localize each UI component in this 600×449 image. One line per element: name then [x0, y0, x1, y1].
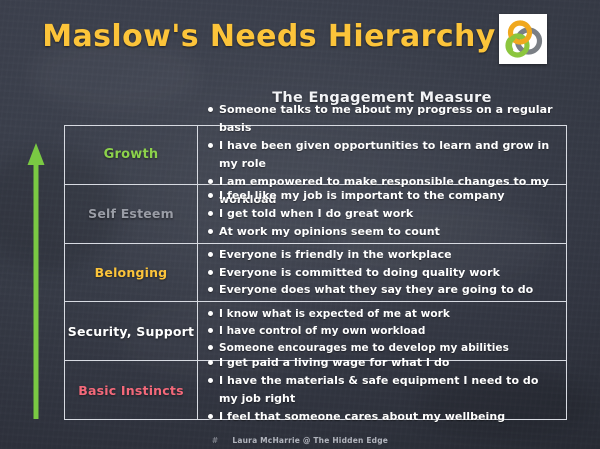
table-row: Basic Instincts I get paid a living wage… [65, 361, 566, 419]
bullet-icon [208, 252, 213, 257]
need-level-label: Self Esteem [65, 185, 198, 243]
bullet-icon [208, 378, 213, 383]
bullet-icon [208, 229, 213, 234]
list-item: Everyone is committed to doing quality w… [208, 264, 560, 282]
footer-credit: #Laura McHarrie @ The Hidden Edge [0, 436, 600, 445]
list-item: I get told when I do great work [208, 205, 560, 223]
engagement-statement-list: I feel like my job is important to the c… [198, 185, 566, 243]
list-item: I feel like my job is important to the c… [208, 187, 560, 205]
need-level-label: Growth [65, 126, 198, 184]
bullet-icon [208, 143, 213, 148]
list-item-text: I get told when I do great work [219, 205, 413, 223]
list-item-text: I feel like my job is important to the c… [219, 187, 505, 205]
table-row: Security, Support I know what is expecte… [65, 302, 566, 361]
engagement-statement-list: I get paid a living wage for what I do I… [198, 361, 566, 419]
list-item-text: I have been given opportunities to learn… [219, 137, 560, 173]
list-item: I have been given opportunities to learn… [208, 137, 560, 173]
bullet-icon [208, 179, 213, 184]
footer-mark: # [212, 436, 218, 445]
table-row: Growth Someone talks to me about my prog… [65, 126, 566, 185]
engagement-statement-list: Someone talks to me about my progress on… [198, 126, 566, 184]
interlocking-rings-logo [499, 14, 547, 64]
engagement-statement-list: I know what is expected of me at work I … [198, 302, 566, 360]
bullet-icon [208, 270, 213, 275]
list-item-text: Someone talks to me about my progress on… [219, 101, 560, 137]
bullet-icon [208, 211, 213, 216]
needs-hierarchy-table: Growth Someone talks to me about my prog… [64, 125, 567, 420]
bullet-icon [208, 345, 213, 350]
upward-progress-arrow [27, 143, 45, 419]
list-item-text: Everyone is friendly in the workplace [219, 246, 452, 264]
list-item: Everyone does what they say they are goi… [208, 281, 560, 299]
need-level-label: Belonging [65, 244, 198, 302]
table-row: Belonging Everyone is friendly in the wo… [65, 244, 566, 303]
engagement-statement-list: Everyone is friendly in the workplace Ev… [198, 244, 566, 302]
list-item: Everyone is friendly in the workplace [208, 246, 560, 264]
list-item: Someone talks to me about my progress on… [208, 101, 560, 137]
bullet-icon [208, 328, 213, 333]
bullet-icon [208, 311, 213, 316]
bullet-icon [208, 287, 213, 292]
list-item-text: I have control of my own workload [219, 323, 425, 340]
need-level-label: Basic Instincts [65, 361, 198, 419]
list-item: I have control of my own workload [208, 323, 560, 340]
list-item-text: At work my opinions seem to count [219, 223, 440, 241]
list-item: I feel that someone cares about my wellb… [208, 408, 560, 426]
bullet-icon [208, 360, 213, 365]
list-item: At work my opinions seem to count [208, 223, 560, 241]
list-item-text: I get paid a living wage for what I do [219, 354, 450, 372]
bullet-icon [208, 107, 213, 112]
list-item: I get paid a living wage for what I do [208, 354, 560, 372]
table-row: Self Esteem I feel like my job is import… [65, 185, 566, 244]
list-item-text: Everyone is committed to doing quality w… [219, 264, 500, 282]
list-item-text: Everyone does what they say they are goi… [219, 281, 533, 299]
bullet-icon [208, 193, 213, 198]
list-item-text: I have the materials & safe equipment I … [219, 372, 560, 408]
list-item-text: I feel that someone cares about my wellb… [219, 408, 505, 426]
need-level-label: Security, Support [65, 302, 198, 360]
bullet-icon [208, 414, 213, 419]
footer-credit-text: Laura McHarrie @ The Hidden Edge [232, 436, 388, 445]
list-item: I have the materials & safe equipment I … [208, 372, 560, 408]
list-item: I know what is expected of me at work [208, 306, 560, 323]
list-item-text: I know what is expected of me at work [219, 306, 450, 323]
slide-canvas: Maslow's Needs Hierarchy The Engagement … [0, 0, 600, 449]
